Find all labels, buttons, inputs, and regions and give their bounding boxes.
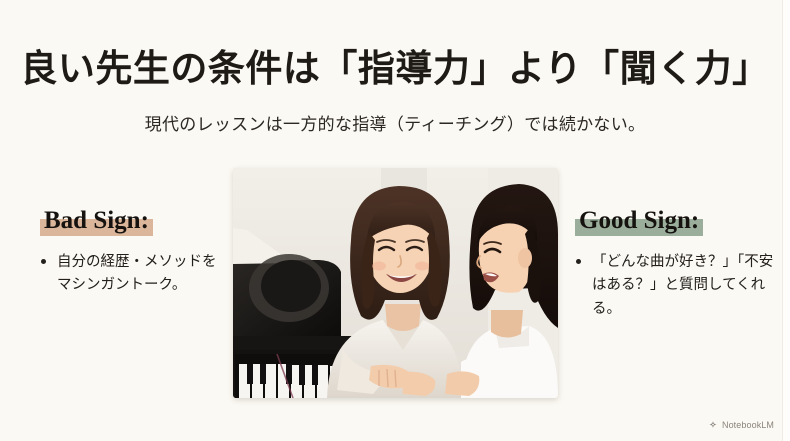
- page-title: 良い先生の条件は「指導力」より「聞く力」: [0, 38, 790, 92]
- good-sign-bullets: 「どんな曲が好き？」「不安はある？」と質問してくれる。: [575, 251, 775, 321]
- bad-sign-heading: Bad Sign:: [40, 208, 153, 235]
- bullet-dot-icon: [41, 259, 46, 264]
- list-item: 「どんな曲が好き？」「不安はある？」と質問してくれる。: [575, 251, 775, 321]
- notebooklm-spark-icon: [708, 420, 718, 430]
- good-sign-column: Good Sign: 「どんな曲が好き？」「不安はある？」と質問してくれる。: [575, 208, 775, 323]
- page-subtitle: 現代のレッスンは一方的な指導（ティーチング）では続かない。: [0, 110, 790, 135]
- notebooklm-watermark: NotebookLM: [708, 420, 774, 430]
- bad-sign-bullets: 自分の経歴・メソッドをマシンガントーク。: [40, 251, 230, 298]
- list-item-text: 「どんな曲が好き？」「不安はある？」と質問してくれる。: [592, 254, 773, 317]
- bullet-dot-icon: [576, 259, 581, 264]
- piano-lesson-photo: [233, 168, 558, 398]
- list-item: 自分の経歴・メソッドをマシンガントーク。: [40, 251, 230, 298]
- list-item-text: 自分の経歴・メソッドをマシンガントーク。: [57, 254, 217, 293]
- good-sign-heading: Good Sign:: [575, 208, 703, 235]
- notebooklm-label: NotebookLM: [722, 420, 774, 430]
- bad-sign-column: Bad Sign: 自分の経歴・メソッドをマシンガントーク。: [40, 208, 230, 300]
- slide-canvas: 良い先生の条件は「指導力」より「聞く力」 現代のレッスンは一方的な指導（ティーチ…: [0, 0, 790, 441]
- photo-illustration: [233, 168, 558, 398]
